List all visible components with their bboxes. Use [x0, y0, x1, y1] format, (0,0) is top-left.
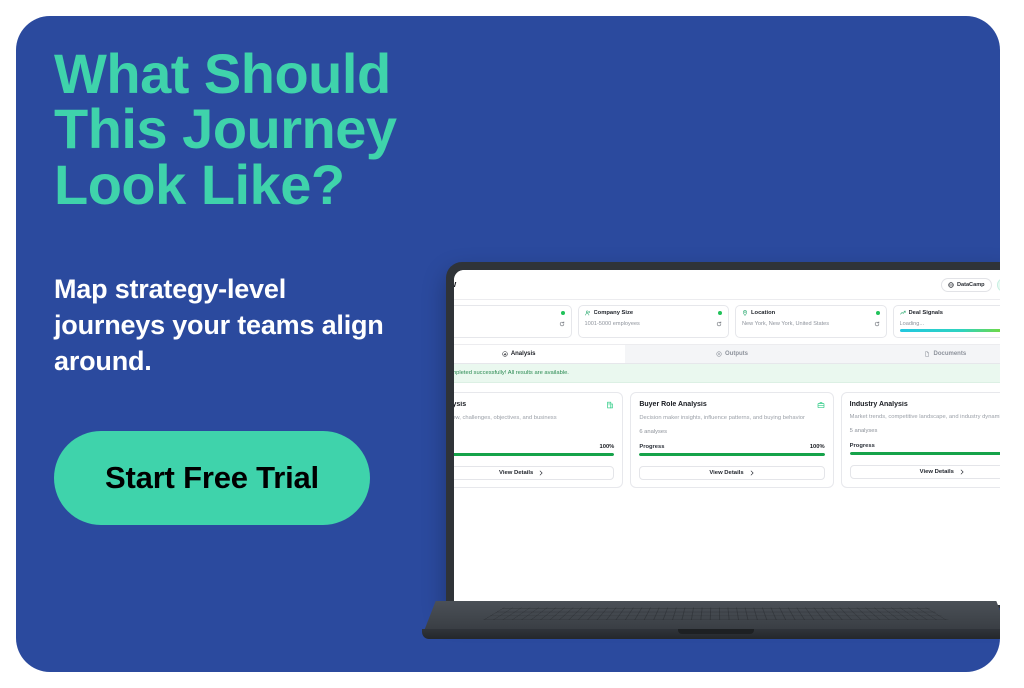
chevron-right-icon [538, 470, 544, 476]
analysis-card-industry-head: Industry Analysis [850, 401, 1000, 408]
package-icon [716, 351, 722, 357]
laptop-base-slab [424, 601, 1000, 631]
promo-headline: What Should This Journey Look Like? [54, 46, 484, 212]
filter-industry-head: stry [454, 310, 565, 316]
filter-industry-body: ing [454, 321, 565, 327]
filter-location-label: Location [751, 310, 775, 316]
app-header: verview DataCamp [454, 270, 1000, 300]
datacamp-badge[interactable]: DataCamp [941, 278, 992, 292]
analysis-card-industry-progress-label: Progress [850, 443, 875, 449]
filter-location-body: New York, New York, United States [742, 321, 880, 327]
progress-fill [454, 453, 614, 456]
view-details-label: View Details [709, 470, 743, 476]
analysis-card-account-count: ses [454, 429, 614, 435]
refresh-icon[interactable] [874, 321, 880, 327]
analysis-card-account-title: nt Analysis [454, 401, 466, 408]
laptop-base-notch [678, 629, 754, 634]
filter-card-deal-signals[interactable]: Deal Signals Loading... [893, 305, 1001, 338]
header-badges: DataCamp Account Up [941, 278, 1000, 292]
users-icon [585, 310, 591, 316]
datacamp-badge-label: DataCamp [957, 282, 985, 288]
view-details-button-account[interactable]: View Details [454, 466, 614, 480]
promo-subheadline: Map strategy-level journeys your teams a… [54, 272, 404, 379]
trending-up-icon [900, 310, 906, 316]
filter-company-size-body: 1001-5000 employees [585, 321, 723, 327]
promo-banner-root: What Should This Journey Look Like? Map … [0, 0, 1024, 688]
briefcase-icon [817, 401, 825, 409]
filter-card-industry[interactable]: stry ing [454, 305, 572, 338]
analysis-card-account-progress-value: 100% [600, 444, 615, 450]
analysis-card-buyer-role-progress-bar [639, 453, 824, 456]
analysis-card-industry-progress-bar [850, 452, 1000, 455]
refresh-icon[interactable] [716, 321, 722, 327]
analysis-card-industry-description: Market trends, competitive landscape, an… [850, 413, 1000, 422]
analysis-card-account-progress-row: s 100% [454, 444, 614, 450]
success-banner: Analysis completed successfully! All res… [454, 364, 1000, 383]
analysis-card-row: nt Analysis [454, 383, 1000, 498]
analysis-card-buyer-role-title: Buyer Role Analysis [639, 401, 706, 408]
chart-icon [502, 351, 508, 357]
analysis-card-buyer-role-progress-value: 100% [810, 444, 825, 450]
view-details-button-industry[interactable]: View Details [850, 465, 1000, 479]
status-dot [876, 311, 880, 315]
globe-icon [948, 282, 954, 288]
progress-fill [639, 453, 824, 456]
page-title: verview [454, 279, 456, 290]
map-pin-icon [742, 310, 748, 316]
tab-outputs-label: Outputs [725, 351, 748, 357]
filter-company-size-label: Company Size [594, 310, 634, 316]
filter-location-head: Location [742, 310, 880, 316]
status-dot [561, 311, 565, 315]
laptop-base [416, 601, 1000, 643]
analysis-card-industry-progress-row: Progress [850, 443, 1000, 449]
analysis-card-buyer-role-progress-row: Progress 100% [639, 444, 824, 450]
analysis-card-account-head: nt Analysis [454, 401, 614, 409]
app-ui: verview DataCamp [454, 270, 1000, 605]
analysis-card-account-description: ny overview, challenges, objectives, and… [454, 414, 614, 423]
analysis-card-industry-title: Industry Analysis [850, 401, 908, 408]
view-details-label: View Details [920, 469, 954, 475]
filter-card-location[interactable]: Location New York, New York, United Stat… [735, 305, 887, 338]
analysis-card-buyer-role[interactable]: Buyer Role Analysis Decision maker insig… [630, 392, 833, 489]
deal-signals-loading-bar [900, 329, 1001, 332]
laptop-mockup: verview DataCamp [416, 252, 1000, 652]
view-details-button-buyer-role[interactable]: View Details [639, 466, 824, 480]
filter-location-value: New York, New York, United States [742, 321, 871, 327]
tab-outputs[interactable]: Outputs [625, 345, 838, 363]
filter-deal-signals-label: Deal Signals [909, 310, 943, 316]
analysis-card-account-progress-bar [454, 453, 614, 456]
analysis-card-buyer-role-description: Decision maker insights, influence patte… [639, 414, 824, 423]
analysis-card-industry[interactable]: Industry Analysis Market trends, competi… [841, 392, 1000, 489]
status-dot [718, 311, 722, 315]
tab-documents-label: Documents [933, 351, 966, 357]
analysis-card-industry-count: 5 analyses [850, 428, 1000, 434]
building-icon [606, 401, 614, 409]
promo-panel: What Should This Journey Look Like? Map … [16, 16, 1000, 672]
laptop-lid: verview DataCamp [446, 262, 1000, 608]
tab-bar: Analysis Outputs [454, 345, 1000, 364]
filter-card-company-size[interactable]: Company Size 1001-5000 employees [578, 305, 730, 338]
progress-fill [850, 452, 1000, 455]
view-details-label: View Details [499, 470, 533, 476]
filter-row: stry ing [454, 300, 1000, 345]
analysis-card-buyer-role-count: 6 analyses [639, 429, 824, 435]
filter-company-size-head: Company Size [585, 310, 723, 316]
laptop-keyboard [483, 607, 949, 620]
analysis-card-buyer-role-head: Buyer Role Analysis [639, 401, 824, 409]
filter-deal-signals-body: Loading... [900, 321, 1001, 327]
start-free-trial-button[interactable]: Start Free Trial [54, 431, 370, 525]
refresh-icon[interactable] [559, 321, 565, 327]
analysis-card-account[interactable]: nt Analysis [454, 392, 623, 489]
filter-deal-signals-head: Deal Signals [900, 310, 1001, 316]
laptop-screen: verview DataCamp [454, 270, 1000, 605]
account-update-badge[interactable]: Account Up [997, 278, 1000, 292]
analysis-card-buyer-role-progress-label: Progress [639, 444, 664, 450]
filter-deal-signals-value: Loading... [900, 321, 1001, 327]
filter-company-size-value: 1001-5000 employees [585, 321, 714, 327]
chevron-right-icon [959, 469, 965, 475]
document-icon [924, 351, 930, 357]
tab-analysis[interactable]: Analysis [454, 345, 625, 363]
tab-documents[interactable]: Documents [839, 345, 1000, 363]
tab-analysis-label: Analysis [511, 351, 536, 357]
chevron-right-icon [749, 470, 755, 476]
filter-industry-value: ing [454, 321, 556, 327]
